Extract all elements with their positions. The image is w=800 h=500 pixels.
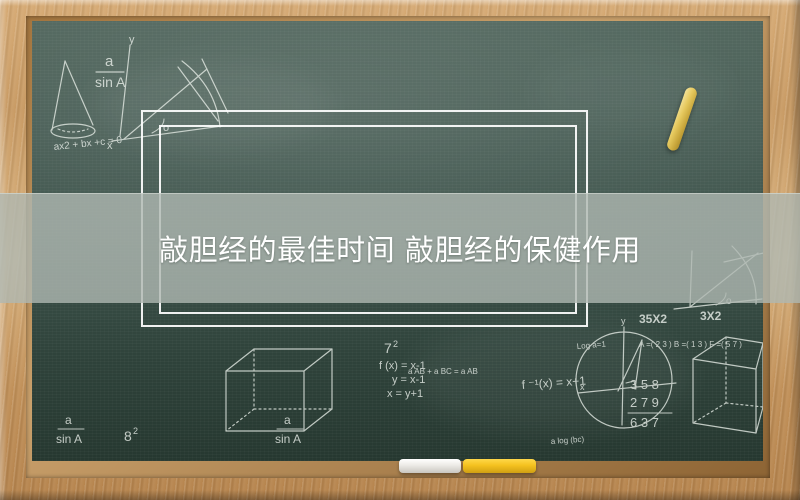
svg-text:y: y — [621, 316, 626, 326]
svg-text:a: a — [65, 413, 72, 427]
svg-text:sin A: sin A — [56, 432, 82, 446]
svg-text:6 3 7: 6 3 7 — [630, 415, 659, 430]
banner-stage: a sin A ax2 + bx +c = 0 y x o — [0, 0, 800, 500]
svg-text:a: a — [105, 53, 114, 70]
law-of-sines-bottom-left: a sin A — [56, 413, 84, 446]
svg-text:2 7 9: 2 7 9 — [630, 395, 659, 410]
frame-shadow-bottom — [0, 490, 800, 500]
matrix-3x2: 3X2 — [700, 309, 722, 323]
svg-text:sin A: sin A — [275, 432, 301, 446]
vector-sum: a AB + a BC = a AB — [408, 367, 478, 376]
cube-bottom-center — [226, 349, 332, 431]
law-of-sines-bottom-mid: a sin A — [275, 413, 303, 446]
svg-text:x: x — [107, 140, 113, 152]
function-definition: f (x) = x-1 y = x-1 x = y+1 — [379, 360, 426, 400]
seven-exponent: 2 — [393, 339, 398, 349]
eight-squared: 8 2 — [124, 426, 138, 444]
svg-text:8: 8 — [124, 428, 132, 444]
svg-text:a: a — [284, 413, 291, 427]
svg-text:x: x — [580, 382, 585, 392]
white-chalk-on-ledge[interactable] — [399, 459, 461, 473]
svg-text:y: y — [129, 34, 135, 46]
circle-with-axes: y x — [576, 316, 676, 428]
cone-drawing — [51, 61, 95, 138]
log-identity: a log (bc) — [551, 435, 585, 446]
seven-squared: 7 — [384, 340, 392, 356]
matrix-35x2: 35X2 — [639, 312, 667, 326]
frame-highlight-top — [0, 0, 800, 6]
page-title: 敲胆经的最佳时间 敲胆经的保健作用 — [0, 193, 800, 303]
svg-text:sin A: sin A — [95, 74, 126, 90]
yellow-chalk-on-ledge[interactable] — [463, 459, 536, 473]
matrix-row: A =( 2 3 ) B =( 1 3 ) F =( 5 7 ) — [639, 340, 742, 349]
law-of-sines-top-left: a sin A — [95, 53, 126, 90]
svg-text:3 5 8: 3 5 8 — [630, 377, 659, 392]
cube-bottom-right — [693, 337, 763, 433]
svg-text:2: 2 — [133, 426, 138, 436]
svg-text:x = y+1: x = y+1 — [387, 388, 423, 400]
